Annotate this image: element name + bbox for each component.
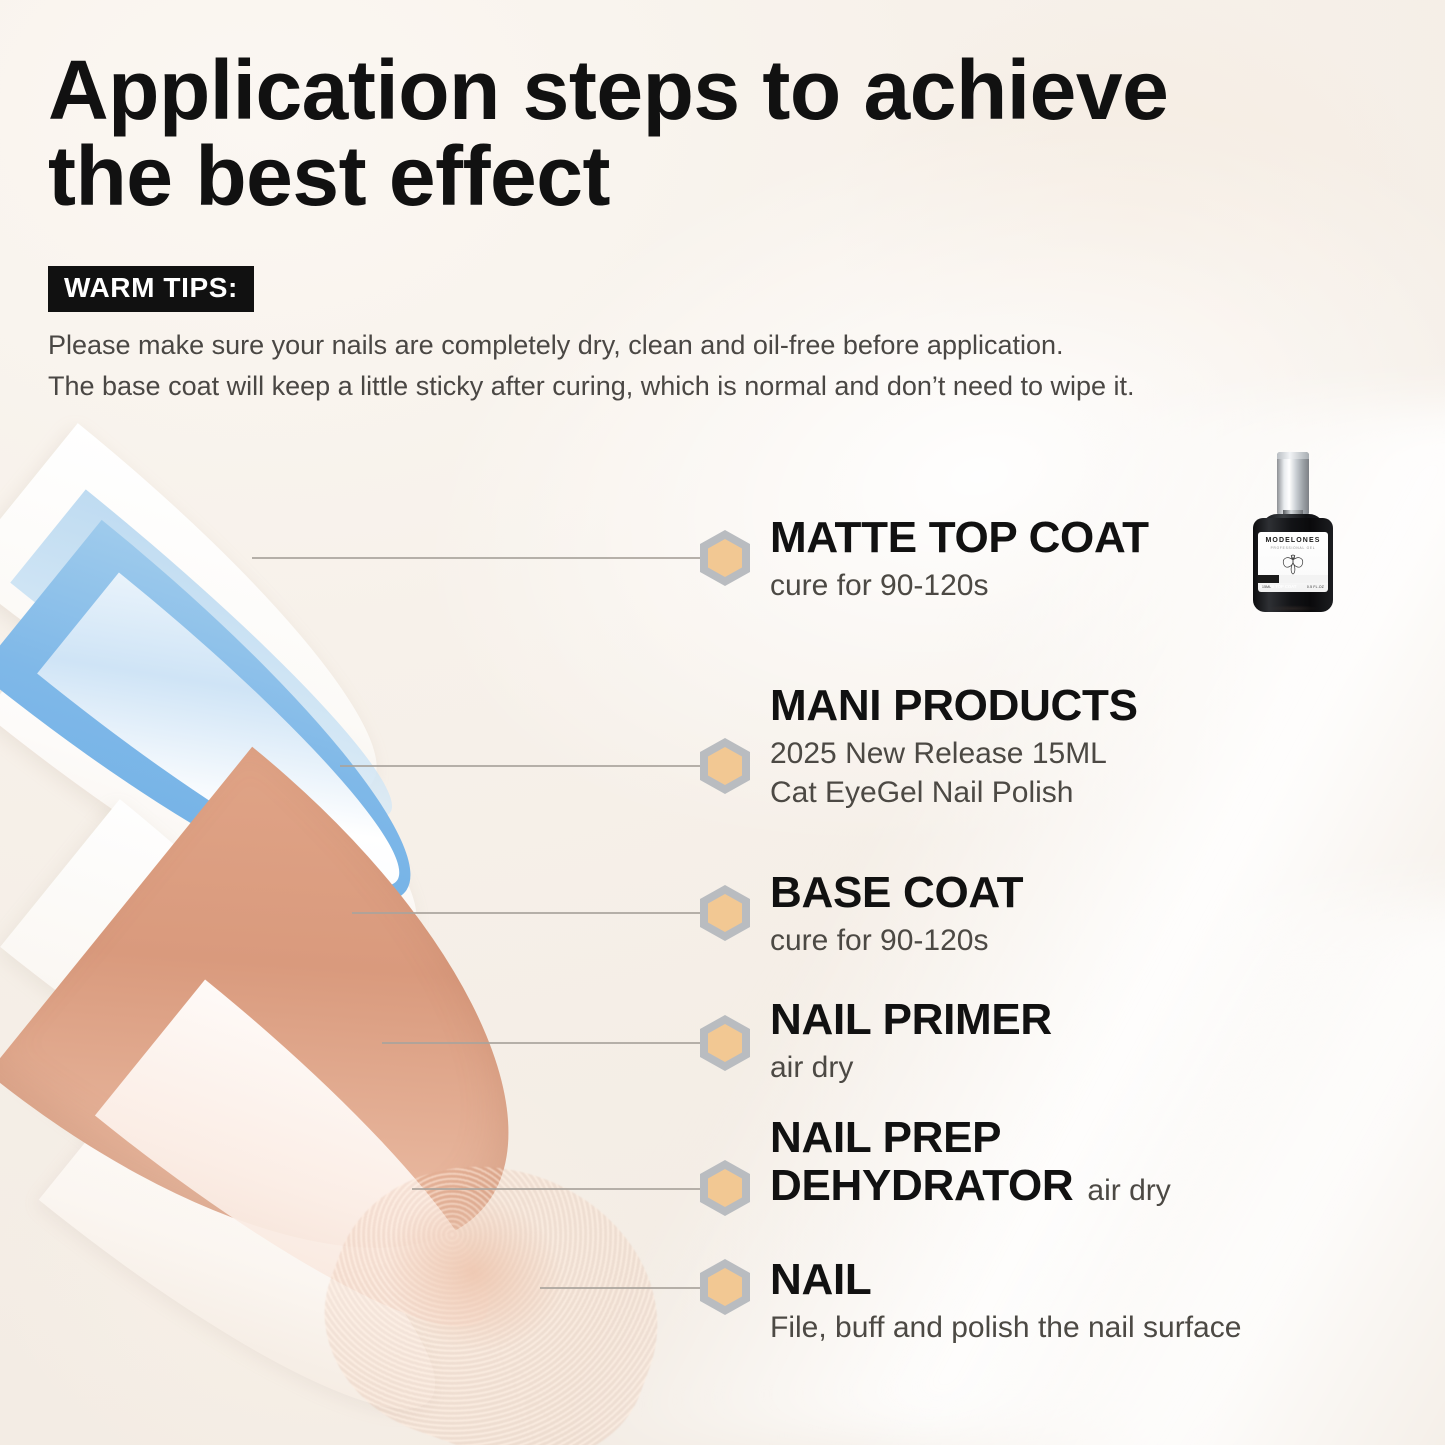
- connector-line-nail: [540, 1287, 707, 1289]
- step-subtitle-mani-products-line-2: Cat EyeGel Nail Polish: [770, 773, 1138, 812]
- bottle-cap: [1277, 452, 1309, 514]
- step-label-mani-products: MANI PRODUCTS 2025 New Release 15ML Cat …: [770, 682, 1138, 812]
- connector-line-nail-prep-dehydrator: [412, 1188, 707, 1190]
- bottle-label: MODELONES PROFESSIONAL GEL MATTE TOP COA…: [1258, 532, 1328, 592]
- bottle-shadow: [1259, 604, 1327, 613]
- infographic-canvas: Application steps to achieve the best ef…: [0, 0, 1445, 1445]
- step-subtitle-base-coat: cure for 90-120s: [770, 921, 1023, 960]
- bottle-brand-name: MODELONES: [1258, 537, 1328, 544]
- step-label-nail: NAIL File, buff and polish the nail surf…: [770, 1256, 1241, 1347]
- bottle-size-left: 15ML: [1262, 585, 1271, 589]
- step-title-base-coat: BASE COAT: [770, 869, 1023, 917]
- connector-line-base-coat: [352, 912, 707, 914]
- connector-line-matte-top-coat: [252, 557, 707, 559]
- page-title-line-2: the best effect: [48, 134, 1408, 220]
- warm-tips-line-1: Please make sure your nails are complete…: [48, 325, 1408, 366]
- step-subtitle-nail: File, buff and polish the nail surface: [770, 1308, 1241, 1347]
- step-title-dehydrator: DEHYDRATOR: [770, 1161, 1073, 1210]
- step-label-nail-primer: NAIL PRIMER air dry: [770, 996, 1052, 1087]
- bottle-cap-top: [1277, 452, 1309, 459]
- step-inline-note-dehydrator: air dry: [1087, 1174, 1170, 1207]
- step-title-nail-primer: NAIL PRIMER: [770, 996, 1052, 1044]
- step-label-matte-top-coat: MATTE TOP COAT cure for 90-120s: [770, 514, 1149, 605]
- product-bottle: MODELONES PROFESSIONAL GEL MATTE TOP COA…: [1247, 452, 1339, 612]
- step-title-mani-products: MANI PRODUCTS: [770, 682, 1138, 730]
- step-label-base-coat: BASE COAT cure for 90-120s: [770, 869, 1023, 960]
- connector-line-mani-products: [340, 765, 707, 767]
- step-label-nail-prep-dehydrator: NAIL PREP DEHYDRATORair dry: [770, 1114, 1171, 1209]
- page-title: Application steps to achieve the best ef…: [48, 48, 1408, 219]
- step-title-nail: NAIL: [770, 1256, 1241, 1304]
- bottle-variant-band: MATTE TOP COAT: [1258, 575, 1328, 583]
- step-subtitle-nail-primer: air dry: [770, 1048, 1052, 1087]
- step-title-nail-prep: NAIL PREP: [770, 1114, 1171, 1162]
- step-title-dehydrator-row: DEHYDRATORair dry: [770, 1162, 1171, 1210]
- page-title-line-1: Application steps to achieve: [48, 48, 1408, 134]
- bottle-brand-subtitle: PROFESSIONAL GEL: [1258, 546, 1328, 550]
- bottle-label-footer: 15ML 0.5 FL.OZ: [1258, 585, 1328, 589]
- connector-line-nail-primer: [382, 1042, 707, 1044]
- warm-tips-badge: WARM TIPS:: [48, 266, 254, 312]
- step-subtitle-mani-products-line-1: 2025 New Release 15ML: [770, 734, 1138, 773]
- bottle-size-right: 0.5 FL.OZ: [1307, 585, 1324, 589]
- step-subtitle-matte-top-coat: cure for 90-120s: [770, 566, 1149, 605]
- step-title-matte-top-coat: MATTE TOP COAT: [770, 514, 1149, 562]
